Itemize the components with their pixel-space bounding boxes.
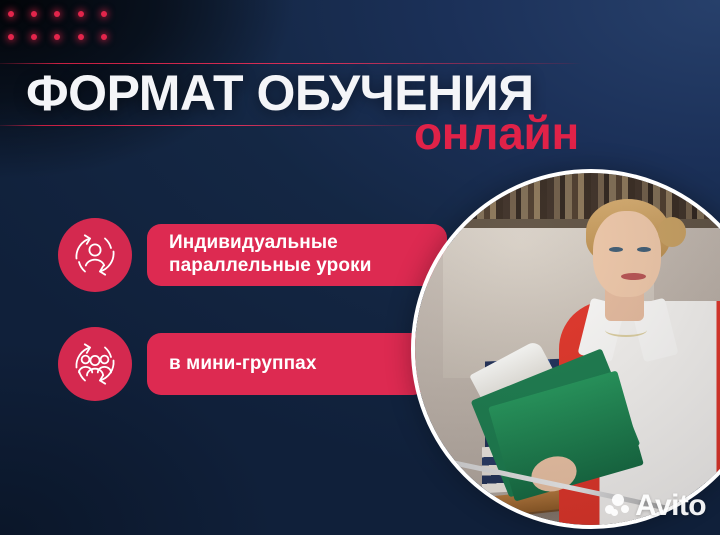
dot-icon <box>8 11 14 17</box>
feature-label: в мини-группах <box>169 352 317 375</box>
page-subtitle: онлайн <box>414 108 579 158</box>
dot-cell <box>101 34 124 57</box>
dot-cell <box>54 34 77 57</box>
dot-icon <box>54 34 60 40</box>
dot-cell <box>78 11 101 34</box>
dot-cell <box>78 34 101 57</box>
photo-tint-overlay <box>415 173 720 525</box>
dot-cell <box>8 11 31 34</box>
dot-grid-decoration <box>8 11 124 57</box>
dot-icon <box>8 34 14 40</box>
dot-icon <box>31 34 37 40</box>
person-refresh-icon <box>58 218 132 292</box>
dot-icon <box>78 34 84 40</box>
teacher-photo-inner <box>415 173 720 525</box>
feature-row-mini-groups: в мини-группах <box>58 327 427 401</box>
vignette-bottom-left <box>0 275 460 535</box>
banner: ФОРМАТ ОБУЧЕНИЯ онлайн Индивидуальные па… <box>0 0 720 535</box>
dot-cell <box>8 34 31 57</box>
dot-icon <box>54 11 60 17</box>
avito-dot <box>612 494 624 506</box>
dot-cell <box>31 11 54 34</box>
avito-watermark: Avito <box>605 491 706 521</box>
feature-label: Индивидуальные параллельные уроки <box>169 231 372 277</box>
dot-icon <box>31 11 37 17</box>
feature-pill-mini-groups[interactable]: в мини-группах <box>147 333 427 395</box>
feature-pill-individual[interactable]: Индивидуальные параллельные уроки <box>147 224 447 286</box>
feature-row-individual: Индивидуальные параллельные уроки <box>58 218 447 292</box>
avito-wordmark: Avito <box>635 491 706 521</box>
accent-rule-middle <box>0 125 426 126</box>
dot-cell <box>101 11 124 34</box>
dot-icon <box>78 11 84 17</box>
group-refresh-icon <box>58 327 132 401</box>
dot-icon <box>101 11 107 17</box>
avito-dot <box>611 509 618 516</box>
dot-icon <box>101 34 107 40</box>
dot-cell <box>31 34 54 57</box>
dot-cell <box>54 11 77 34</box>
avito-dot <box>621 505 629 513</box>
accent-rule-top <box>0 63 582 64</box>
teacher-photo <box>411 169 720 529</box>
avito-dots-icon <box>605 494 629 518</box>
